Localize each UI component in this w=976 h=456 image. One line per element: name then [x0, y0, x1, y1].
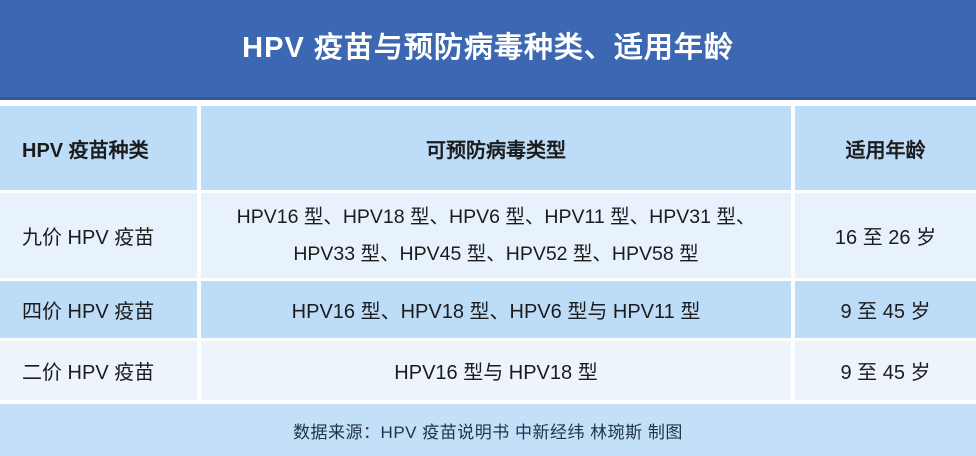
- cell-virus-types: HPV16 型、HPV18 型、HPV6 型、HPV11 型、HPV31 型、 …: [201, 193, 791, 278]
- cell-age-range: 16 至 26 岁: [795, 193, 976, 278]
- table-row: 二价 HPV 疫苗 HPV16 型与 HPV18 型 9 至 45 岁: [0, 341, 976, 400]
- hpv-vaccine-infographic: HPV 疫苗与预防病毒种类、适用年龄 HPV 疫苗种类 可预防病毒类型 适用年龄…: [0, 0, 976, 456]
- header-cell-vaccine-type: HPV 疫苗种类: [0, 106, 197, 190]
- cell-vaccine-type: 二价 HPV 疫苗: [0, 341, 197, 400]
- header-cell-virus-types: 可预防病毒类型: [201, 106, 791, 190]
- row-separator: [0, 400, 976, 403]
- cell-virus-types-line-1: HPV16 型、HPV18 型、HPV6 型、HPV11 型、HPV31 型、: [237, 199, 756, 235]
- title-banner: HPV 疫苗与预防病毒种类、适用年龄: [0, 0, 976, 100]
- table-header-row: HPV 疫苗种类 可预防病毒类型 适用年龄: [0, 106, 976, 190]
- cell-age-range: 9 至 45 岁: [795, 281, 976, 338]
- cell-vaccine-type: 九价 HPV 疫苗: [0, 193, 197, 278]
- cell-virus-types-line-2: HPV33 型、HPV45 型、HPV52 型、HPV58 型: [237, 236, 756, 272]
- footer-bar: 数据来源：HPV 疫苗说明书 中新经纬 林琬斯 制图: [0, 404, 976, 456]
- cell-age-range: 9 至 45 岁: [795, 341, 976, 400]
- data-source-note: 数据来源：HPV 疫苗说明书 中新经纬 林琬斯 制图: [293, 418, 683, 443]
- table-row: 四价 HPV 疫苗 HPV16 型、HPV18 型、HPV6 型与 HPV11 …: [0, 281, 976, 338]
- vaccine-table: HPV 疫苗种类 可预防病毒类型 适用年龄 九价 HPV 疫苗 HPV16 型、…: [0, 106, 976, 404]
- cell-virus-types: HPV16 型与 HPV18 型: [201, 341, 791, 400]
- table-row: 九价 HPV 疫苗 HPV16 型、HPV18 型、HPV6 型、HPV11 型…: [0, 193, 976, 278]
- cell-vaccine-type: 四价 HPV 疫苗: [0, 281, 197, 338]
- cell-virus-types: HPV16 型、HPV18 型、HPV6 型与 HPV11 型: [201, 281, 791, 338]
- header-cell-age-range: 适用年龄: [795, 106, 976, 190]
- page-title: HPV 疫苗与预防病毒种类、适用年龄: [242, 33, 734, 65]
